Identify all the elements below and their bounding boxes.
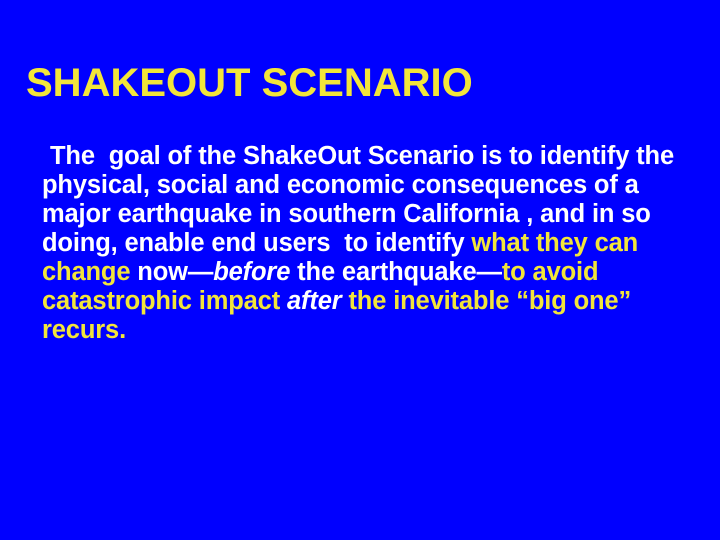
body-run-the-earthquake: the earthquake— bbox=[290, 258, 502, 286]
body-run-emphasis-after: after bbox=[287, 287, 342, 315]
presentation-slide: SHAKEOUT SCENARIO The goal of the ShakeO… bbox=[0, 0, 720, 540]
body-run-now-dash: now— bbox=[130, 258, 213, 286]
slide-title: SHAKEOUT SCENARIO bbox=[26, 61, 473, 105]
slide-body-text: The goal of the ShakeOut Scenario is to … bbox=[42, 142, 692, 345]
body-run-emphasis-before: before bbox=[213, 258, 290, 286]
